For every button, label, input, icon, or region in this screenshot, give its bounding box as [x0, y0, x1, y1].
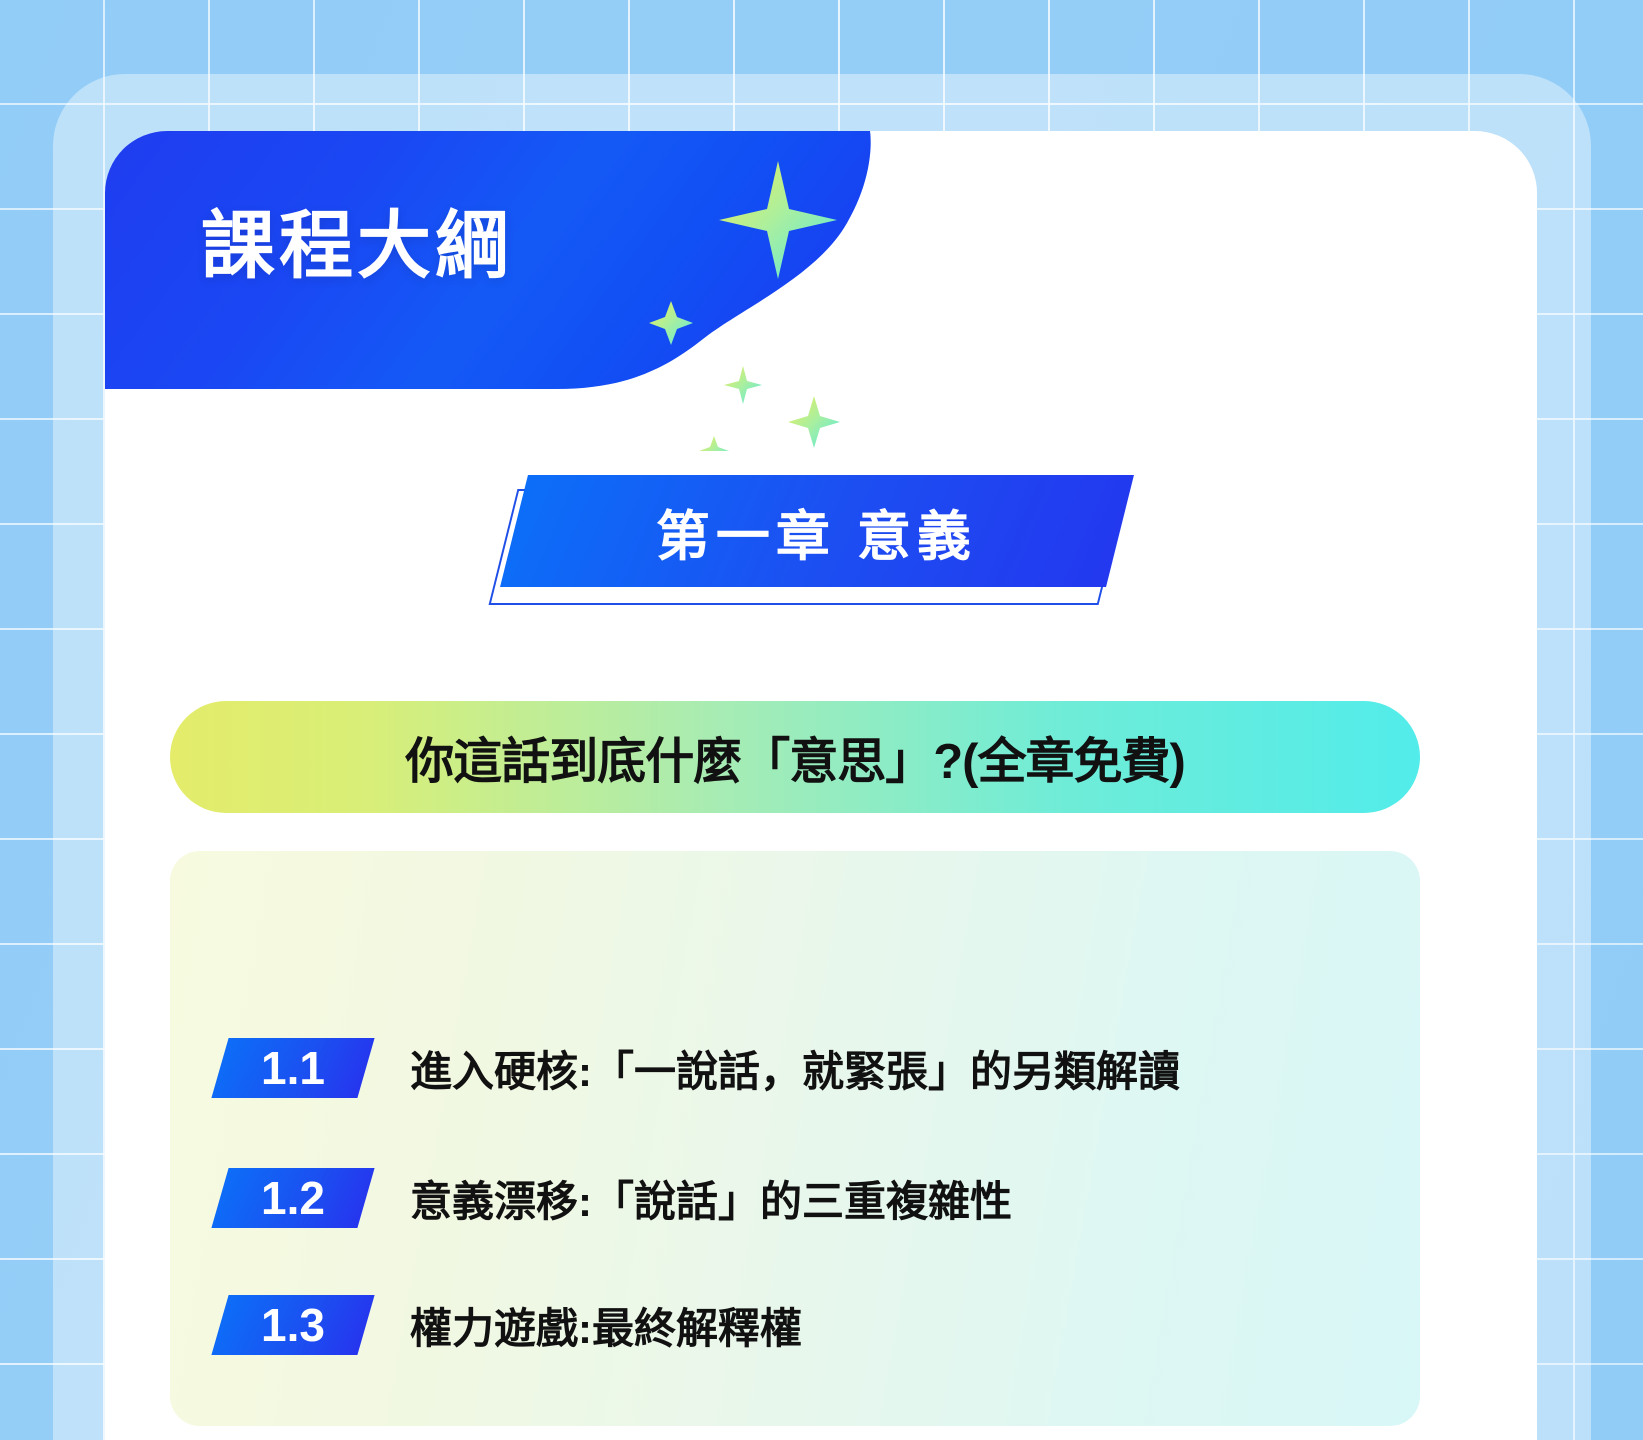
list-item[interactable]: 1.3 權力遊戲:最終解釋權 — [220, 1293, 802, 1357]
chapter-label: 第一章 意義 — [656, 492, 977, 571]
list-item[interactable]: 1.1 進入硬核:「一說話，就緊張」的另類解讀 — [220, 1036, 1180, 1100]
slide-canvas: 課程大綱 第一章 意義 你這話到底什麼「意思」?(全章免費) 1.1 進入硬核:… — [0, 0, 1643, 1440]
content-card: 課程大綱 第一章 意義 你這話到底什麼「意思」?(全章免費) 1.1 進入硬核:… — [105, 131, 1537, 1440]
page-title: 課程大綱 — [201, 209, 513, 283]
lesson-title-pill: 你這話到底什麼「意思」?(全章免費) — [170, 701, 1420, 813]
item-number-badge: 1.2 — [211, 1168, 374, 1228]
list-item[interactable]: 1.2 意義漂移:「說話」的三重複雜性 — [220, 1166, 1012, 1230]
sparkle-icon — [724, 366, 762, 404]
header-banner: 課程大綱 — [105, 131, 965, 451]
chapter-banner-fill: 第一章 意義 — [500, 475, 1134, 587]
chapter-banner: 第一章 意義 — [495, 469, 1125, 629]
item-label: 權力遊戲:最終解釋權 — [410, 1295, 802, 1356]
item-number-badge: 1.1 — [211, 1038, 374, 1098]
item-number: 1.3 — [261, 1298, 325, 1352]
item-number: 1.2 — [261, 1171, 325, 1225]
header-shape — [105, 131, 965, 451]
item-label: 進入硬核:「一說話，就緊張」的另類解讀 — [410, 1038, 1180, 1099]
sparkle-icon — [788, 396, 840, 448]
lesson-items-card: 1.1 進入硬核:「一說話，就緊張」的另類解讀 1.2 意義漂移:「說話」的三重… — [170, 851, 1420, 1426]
item-label: 意義漂移:「說話」的三重複雜性 — [410, 1168, 1012, 1229]
item-number: 1.1 — [261, 1041, 325, 1095]
lesson-title: 你這話到底什麼「意思」?(全章免費) — [405, 722, 1185, 793]
item-number-badge: 1.3 — [211, 1295, 374, 1355]
sparkle-icon — [699, 436, 729, 451]
